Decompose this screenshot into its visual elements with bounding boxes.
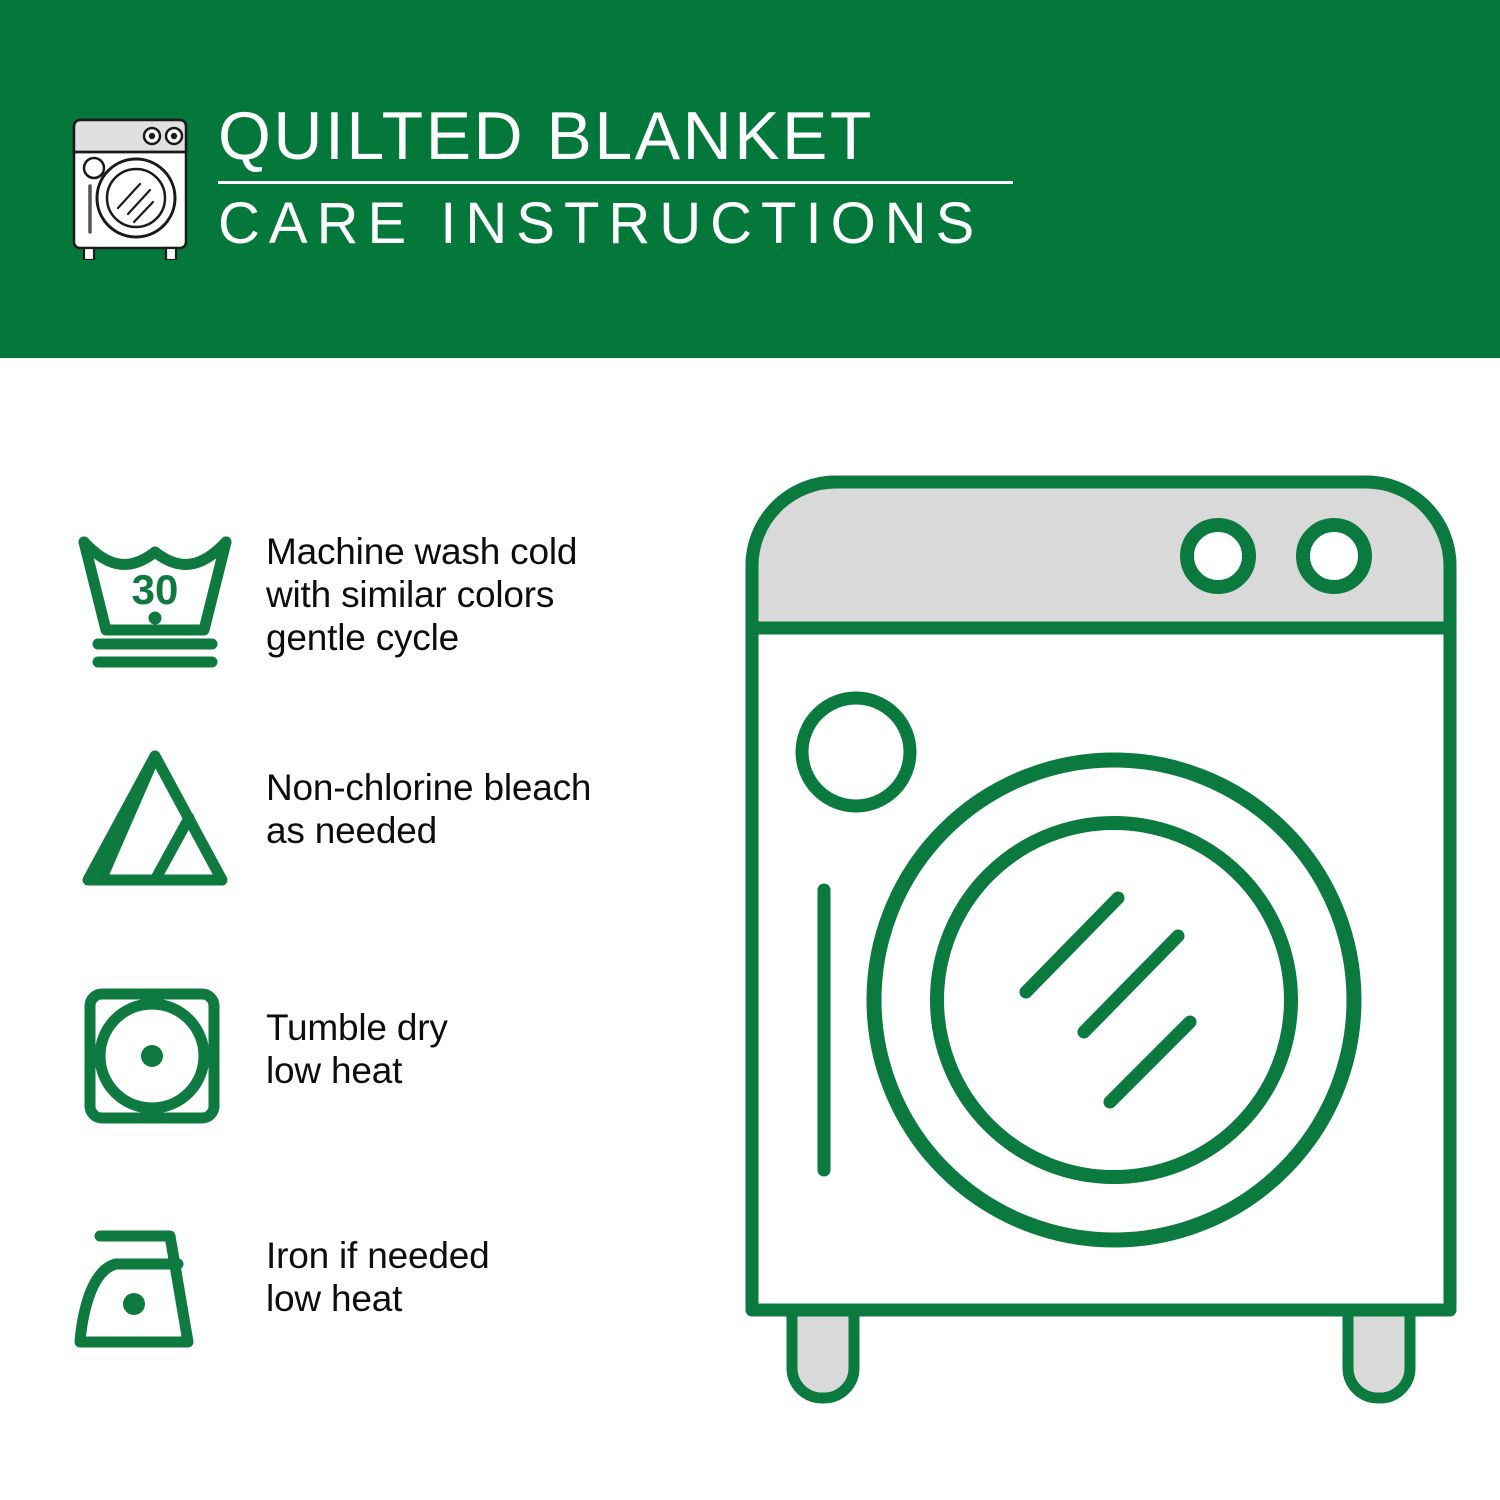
washing-machine-icon	[60, 110, 200, 260]
machine-wash-30-gentle-symbol: 30	[70, 518, 240, 678]
care-label-line: Iron if needed	[266, 1234, 710, 1277]
care-label-line: Non-chlorine bleach	[266, 766, 710, 809]
care-label-line: low heat	[266, 1277, 710, 1320]
header-titles: QUILTED BLANKET CARE INSTRUCTIONS	[218, 96, 1088, 258]
care-label-tumble-dry: Tumble dry low heat	[240, 976, 710, 1092]
care-row-tumble-dry: Tumble dry low heat	[70, 976, 710, 1136]
care-label-line: gentle cycle	[266, 616, 710, 659]
page-title: QUILTED BLANKET	[218, 96, 1088, 176]
care-row-iron: Iron if needed low heat	[70, 1216, 710, 1376]
care-label-line: as needed	[266, 809, 710, 852]
care-row-wash: 30 Machine wash cold with similar colors…	[70, 518, 710, 678]
knob-right	[1303, 525, 1365, 587]
care-label-iron: Iron if needed low heat	[240, 1216, 710, 1320]
header-content: QUILTED BLANKET CARE INSTRUCTIONS	[60, 96, 1040, 276]
care-label-line: Tumble dry	[266, 1006, 710, 1049]
care-label-line: with similar colors	[266, 573, 710, 616]
knob-left	[1187, 525, 1249, 587]
non-chlorine-bleach-symbol	[70, 738, 240, 898]
front-load-washing-machine-illustration	[740, 470, 1460, 1430]
header-banner: QUILTED BLANKET CARE INSTRUCTIONS	[0, 0, 1500, 358]
title-divider	[218, 181, 1013, 184]
care-label-line: low heat	[266, 1049, 710, 1092]
care-label-wash: Machine wash cold with similar colors ge…	[240, 518, 710, 659]
care-label-bleach: Non-chlorine bleach as needed	[240, 738, 710, 852]
page-subtitle: CARE INSTRUCTIONS	[218, 190, 1088, 258]
detergent-dial	[802, 698, 910, 806]
tumble-dry-low-symbol	[70, 976, 240, 1136]
wash-temperature-value: 30	[132, 566, 179, 613]
care-row-bleach: Non-chlorine bleach as needed	[70, 738, 710, 898]
iron-low-heat-symbol	[70, 1216, 240, 1376]
care-instructions-list: 30 Machine wash cold with similar colors…	[0, 358, 740, 1500]
care-label-line: Machine wash cold	[266, 530, 710, 573]
